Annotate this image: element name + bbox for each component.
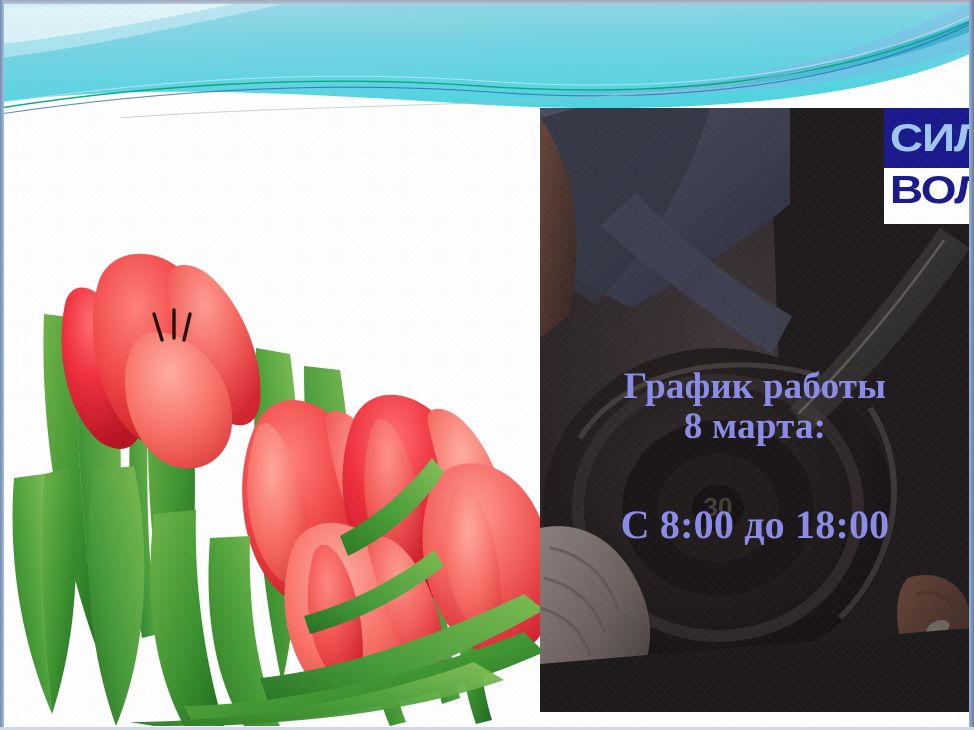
slide-border-left	[0, 0, 4, 730]
schedule-line-title: График работы	[624, 367, 887, 407]
sila-voli-logo: СИЛА ВОЛИ	[884, 108, 974, 224]
schedule-line-hours: С 8:00 до 18:00	[621, 503, 890, 546]
flow-wave-header	[0, 0, 974, 118]
red-tulip-bouquet-image	[4, 118, 544, 726]
slide-border-top	[0, 0, 974, 4]
schedule-line-date: 8 марта:	[684, 407, 826, 447]
slide-border-right	[969, 0, 974, 730]
presentation-slide: 30 График работы 8 марта:	[0, 0, 974, 730]
logo-word-voli: ВОЛИ	[884, 171, 974, 210]
logo-word-sila: СИЛА	[884, 119, 974, 158]
